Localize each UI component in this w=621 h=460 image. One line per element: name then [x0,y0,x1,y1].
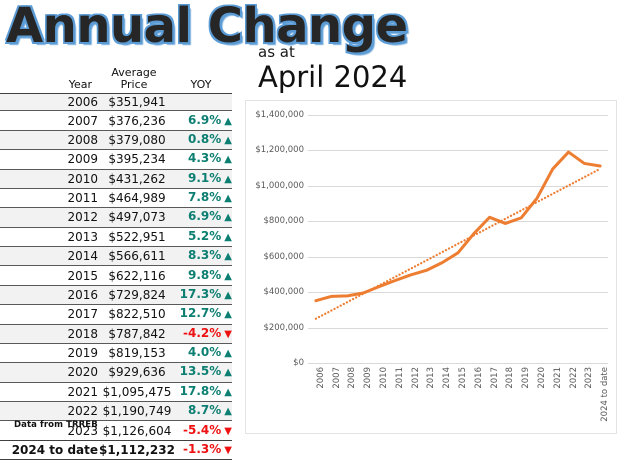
cell-average-price: $787,842 [98,324,176,343]
table-row: 2019$819,1534.0%▲ [0,343,232,362]
cell-year: 2020 [0,363,98,382]
yoy-value: -5.4% [183,423,221,437]
yoy-value: -1.3% [183,442,221,456]
y-axis-labels: $0$200,000$400,000$600,000$800,000$1,000… [246,101,304,433]
average-price-line-chart: $0$200,000$400,000$600,000$800,000$1,000… [245,100,617,434]
yoy-value: 17.3% [180,287,222,301]
cell-year: 2019 [0,343,98,362]
arrow-down-icon: ▼ [224,329,232,340]
cell-average-price: $1,095,475 [98,382,176,401]
table-row: 2024 to date$1,112,232-1.3%▼ [0,440,232,459]
yoy-value: 7.8% [188,190,221,204]
cell-year: 2007 [0,111,98,130]
table-row: 2006$351,941 [0,94,232,111]
cell-year: 2009 [0,150,98,169]
table-row: 2009$395,2344.3%▲ [0,150,232,169]
cell-yoy: -5.4%▼ [176,421,232,440]
cell-year: 2015 [0,266,98,285]
y-axis-tick-label: $1,400,000 [255,110,304,120]
cell-yoy: -4.2%▼ [176,324,232,343]
infographic-root: Annual Change as at April 2024 Year Aver… [0,0,621,437]
yoy-value: 0.8% [188,132,221,146]
x-axis-tick-label: 2018 [505,367,515,389]
table-row: 2022$1,190,7498.7%▲ [0,402,232,421]
col-header-average-price-line2: Price [121,78,148,91]
x-axis-tick-label: 2013 [426,367,436,389]
cell-average-price: $822,510 [98,305,176,324]
table-row: 2010$431,2629.1%▲ [0,169,232,188]
x-axis-tick-label: 2014 [442,367,452,389]
cell-average-price: $566,611 [98,247,176,266]
cell-year: 2021 [0,382,98,401]
x-axis-labels: 2006200720082009201020112012201320142015… [308,363,608,435]
arrow-up-icon: ▲ [224,232,232,243]
arrow-up-icon: ▲ [224,290,232,301]
x-axis-tick-label: 2008 [347,367,357,389]
cell-yoy: 0.8%▲ [176,130,232,149]
cell-average-price: $1,112,232 [98,440,176,459]
arrow-up-icon: ▲ [224,116,232,127]
x-axis-tick-label: 2012 [411,367,421,389]
table-row: 2014$566,6118.3%▲ [0,247,232,266]
cell-year: 2012 [0,208,98,227]
cell-average-price: $431,262 [98,169,176,188]
cell-yoy: 7.8%▲ [176,188,232,207]
x-axis-tick-label: 2019 [521,367,531,389]
as-at-label: as at [258,44,407,60]
cell-year: 2014 [0,247,98,266]
arrow-up-icon: ▲ [224,193,232,204]
x-axis-tick-label: 2023 [584,367,594,389]
cell-average-price: $1,190,749 [98,402,176,421]
cell-year: 2024 to date [0,440,98,459]
yoy-value: 9.8% [188,268,221,282]
arrow-up-icon: ▲ [224,348,232,359]
cell-yoy: -1.3%▼ [176,440,232,459]
x-axis-tick-label: 2021 [553,367,563,389]
cell-average-price: $522,951 [98,227,176,246]
arrow-down-icon: ▼ [224,445,232,456]
arrow-up-icon: ▲ [224,367,232,378]
y-axis-tick-label: $400,000 [263,287,304,297]
cell-year: 2013 [0,227,98,246]
chart-inner: $0$200,000$400,000$600,000$800,000$1,000… [246,101,616,433]
arrow-up-icon: ▲ [224,154,232,165]
x-axis-tick-label: 2020 [537,367,547,389]
arrow-down-icon: ▼ [224,426,232,437]
col-header-average-price: Average Price [98,66,176,94]
y-axis-tick-label: $200,000 [263,323,304,333]
x-axis-tick-label: 2009 [363,367,373,389]
cell-average-price: $622,116 [98,266,176,285]
yoy-value: 6.9% [188,113,221,127]
cell-average-price: $1,126,604 [98,421,176,440]
x-axis-tick-label: 2006 [316,367,326,389]
yoy-value: 8.3% [188,248,221,262]
yoy-value: 13.5% [180,364,222,378]
as-at-date: April 2024 [258,60,407,94]
cell-year: 2011 [0,188,98,207]
y-axis-tick-label: $600,000 [263,252,304,262]
table-row: 2016$729,82417.3%▲ [0,285,232,304]
arrow-up-icon: ▲ [224,309,232,320]
cell-yoy: 17.8%▲ [176,382,232,401]
cell-average-price: $351,941 [98,94,176,111]
cell-average-price: $929,636 [98,363,176,382]
table-row: 2017$822,51012.7%▲ [0,305,232,324]
annual-change-table: Year Average Price YOY 2006$351,9412007$… [0,66,232,460]
cell-average-price: $819,153 [98,343,176,362]
cell-year: 2017 [0,305,98,324]
yoy-value: 17.8% [180,384,222,398]
cell-yoy: 17.3%▲ [176,285,232,304]
table-row: 2007$376,2366.9%▲ [0,111,232,130]
cell-yoy: 6.9%▲ [176,208,232,227]
cell-average-price: $379,080 [98,130,176,149]
table-header-row: Year Average Price YOY [0,66,232,94]
x-axis-tick-label: 2011 [395,367,405,389]
cell-yoy: 5.2%▲ [176,227,232,246]
cell-year: 2008 [0,130,98,149]
cell-average-price: $729,824 [98,285,176,304]
yoy-value: 4.0% [188,345,221,359]
arrow-up-icon: ▲ [224,271,232,282]
cell-yoy: 8.7%▲ [176,402,232,421]
x-axis-tick-label: 2010 [379,367,389,389]
cell-yoy: 9.1%▲ [176,169,232,188]
table-row: 2015$622,1169.8%▲ [0,266,232,285]
source-note: Data from TRREB [14,420,98,430]
yoy-value: 12.7% [180,306,222,320]
yoy-value: 9.1% [188,171,221,185]
cell-year: 2018 [0,324,98,343]
cell-year: 2022 [0,402,98,421]
cell-yoy: 4.0%▲ [176,343,232,362]
cell-year: 2006 [0,94,98,111]
y-axis-tick-label: $1,000,000 [255,181,304,191]
table-row: 2020$929,63613.5%▲ [0,363,232,382]
cell-yoy: 12.7%▲ [176,305,232,324]
yoy-value: -4.2% [183,326,221,340]
cell-yoy: 6.9%▲ [176,111,232,130]
arrow-up-icon: ▲ [224,174,232,185]
y-axis-tick-label: $1,200,000 [255,145,304,155]
x-axis-tick-label: 2015 [458,367,468,389]
cell-average-price: $376,236 [98,111,176,130]
arrow-up-icon: ▲ [224,135,232,146]
cell-yoy: 13.5%▲ [176,363,232,382]
cell-average-price: $464,989 [98,188,176,207]
cell-average-price: $497,073 [98,208,176,227]
table-body: 2006$351,9412007$376,2366.9%▲2008$379,08… [0,94,232,460]
x-axis-tick-label: 2022 [569,367,579,389]
table-row: 2011$464,9897.8%▲ [0,188,232,207]
yoy-value: 5.2% [188,229,221,243]
yoy-value: 6.9% [188,209,221,223]
x-axis-tick-label: 2024 to date [600,367,610,422]
table-row: 2013$522,9515.2%▲ [0,227,232,246]
x-axis-tick-label: 2007 [332,367,342,389]
cell-yoy: 8.3%▲ [176,247,232,266]
cell-yoy: 9.8%▲ [176,266,232,285]
arrow-up-icon: ▲ [224,387,232,398]
price-line-series [316,152,600,301]
cell-yoy: 4.3%▲ [176,150,232,169]
col-header-year: Year [0,66,98,94]
trendline-series [316,169,600,319]
x-axis-tick-label: 2016 [474,367,484,389]
annual-change-table-wrap: Year Average Price YOY 2006$351,9412007$… [0,66,232,460]
yoy-value: 4.3% [188,151,221,165]
table-row: 2018$787,842-4.2%▼ [0,324,232,343]
arrow-up-icon: ▲ [224,212,232,223]
cell-year: 2010 [0,169,98,188]
table-row: 2008$379,0800.8%▲ [0,130,232,149]
x-axis-tick-label: 2017 [490,367,500,389]
cell-yoy [176,94,232,111]
cell-average-price: $395,234 [98,150,176,169]
table-row: 2012$497,0736.9%▲ [0,208,232,227]
yoy-value: 8.7% [188,403,221,417]
col-header-yoy: YOY [176,66,232,94]
cell-year: 2016 [0,285,98,304]
as-at-block: as at April 2024 [258,44,407,94]
y-axis-tick-label: $0 [293,358,304,368]
arrow-up-icon: ▲ [224,251,232,262]
arrow-up-icon: ▲ [224,406,232,417]
table-row: 2021$1,095,47517.8%▲ [0,382,232,401]
y-axis-tick-label: $800,000 [263,216,304,226]
